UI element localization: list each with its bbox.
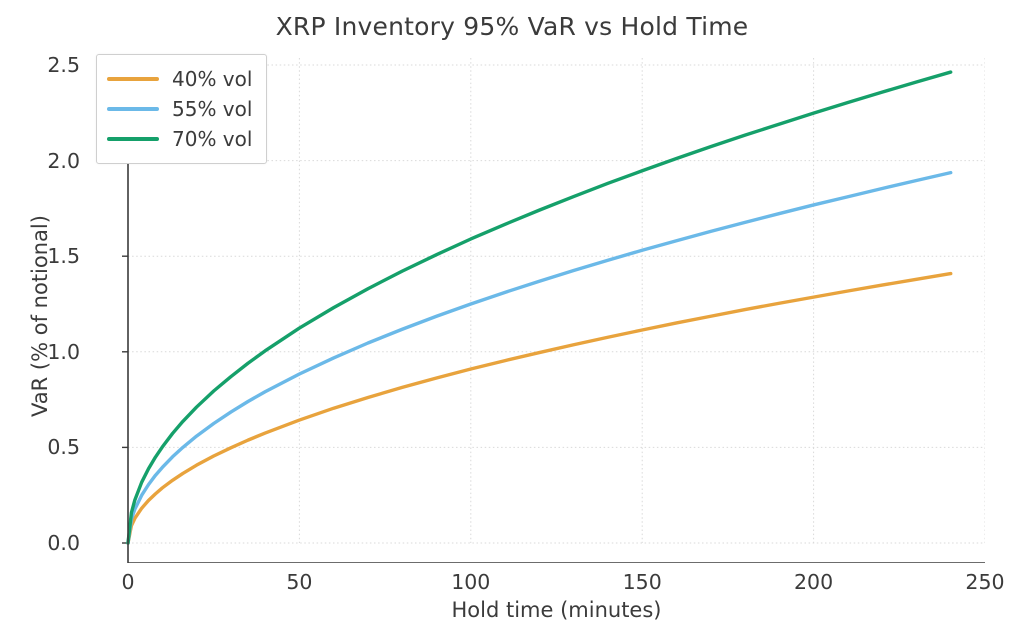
x-axis-label: Hold time (minutes) <box>128 598 985 622</box>
chart-legend[interactable]: 40% vol55% vol70% vol <box>96 54 267 164</box>
chart-figure: XRP Inventory 95% VaR vs Hold Time 0.00.… <box>0 0 1024 640</box>
legend-label: 55% vol <box>172 97 252 121</box>
legend-item[interactable]: 40% vol <box>107 64 252 94</box>
legend-color-swatch <box>107 77 159 81</box>
legend-color-swatch <box>107 107 159 111</box>
legend-color-swatch <box>107 137 159 141</box>
x-tick-label: 50 <box>259 570 339 594</box>
x-tick-label: 100 <box>431 570 511 594</box>
legend-label: 40% vol <box>172 67 252 91</box>
x-tick-label: 150 <box>602 570 682 594</box>
legend-label: 70% vol <box>172 127 252 151</box>
legend-item[interactable]: 55% vol <box>107 94 252 124</box>
legend-item[interactable]: 70% vol <box>107 124 252 154</box>
x-tick-label: 200 <box>774 570 854 594</box>
x-tick-label: 250 <box>945 570 1024 594</box>
x-tick-label: 0 <box>88 570 168 594</box>
y-axis-label: VaR (% of notional) <box>28 196 52 436</box>
